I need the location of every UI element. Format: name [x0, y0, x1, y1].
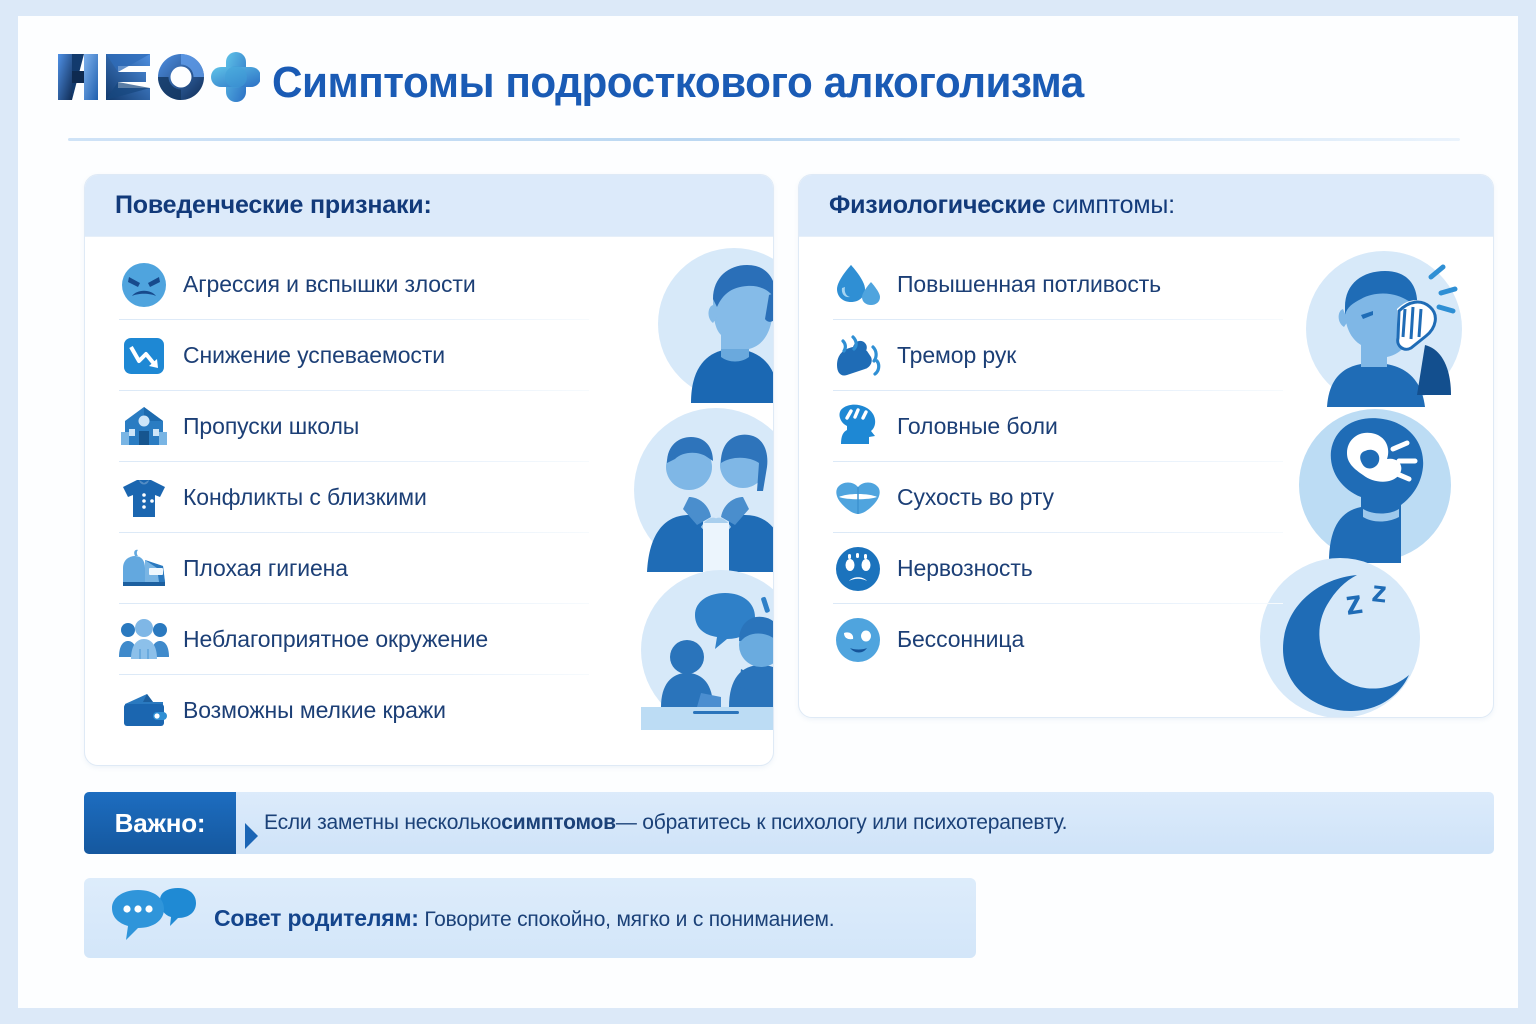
- list-item-label: Конфликты с близкими: [183, 484, 427, 511]
- list-item-label: Неблагоприятное окружение: [183, 626, 488, 653]
- header-divider: [68, 138, 1460, 141]
- nervous-face-icon: [833, 544, 883, 594]
- group-people-icon: [119, 615, 169, 665]
- important-tag-label: Важно:: [115, 808, 206, 839]
- head-pain-icon: [833, 402, 883, 452]
- list-item[interactable]: Снижение успеваемости: [85, 320, 773, 391]
- list-item-label: Тремор рук: [897, 342, 1016, 369]
- list-item[interactable]: Плохая гигиена: [85, 533, 773, 604]
- advice-banner: Совет родителям: Говорите спокойно, мягк…: [84, 878, 976, 958]
- tshirt-icon: [119, 473, 169, 523]
- wallet-icon: [119, 686, 169, 736]
- panel-physiological-title-suffix: симптомы:: [1046, 191, 1175, 219]
- advice-label: Совет родителям:: [214, 905, 419, 931]
- list-item[interactable]: Сухость во рту: [799, 462, 1493, 533]
- list-item-label: Повышенная потливость: [897, 271, 1161, 298]
- important-tag: Важно:: [84, 792, 236, 854]
- advice-body: Говорите спокойно, мягко и с пониманием.: [419, 908, 835, 931]
- list-item-label: Возможны мелкие кражи: [183, 697, 446, 724]
- list-item[interactable]: Неблагоприятное окружение: [85, 604, 773, 675]
- sweat-drops-icon: [833, 260, 883, 310]
- page-title: Симптомы подросткового алкоголизма: [272, 58, 1084, 108]
- trash-bag-icon: [119, 544, 169, 594]
- list-item-label: Плохая гигиена: [183, 555, 348, 582]
- list-item-label: Нервозность: [897, 555, 1033, 582]
- dry-lips-icon: [833, 473, 883, 523]
- important-banner: Важно: Если заметны несколько симптомов …: [84, 792, 1494, 854]
- panel-behavioral-header: Поведенческие признаки:: [85, 175, 773, 237]
- list-item[interactable]: Нервозность: [799, 533, 1493, 604]
- sleepless-face-icon: [833, 615, 883, 665]
- panel-behavioral-title-suffix: :: [423, 191, 431, 219]
- panel-behavioral-body: Агрессия и вспышки злости Снижение успев…: [85, 237, 773, 765]
- speech-bubbles-icon: [110, 888, 196, 949]
- neo-plus-logo: [50, 46, 260, 108]
- school-building-icon: [119, 402, 169, 452]
- infographic-canvas: Симптомы подросткового алкоголизма Повед…: [18, 16, 1518, 1008]
- header: Симптомы подросткового алкоголизма: [36, 32, 1476, 144]
- list-item[interactable]: Пропуски школы: [85, 391, 773, 462]
- important-text-after: — обратитесь к психологу или психотерапе…: [616, 811, 1067, 835]
- advice-text: Совет родителям: Говорите спокойно, мягк…: [214, 905, 834, 932]
- list-item-label: Головные боли: [897, 413, 1058, 440]
- important-text-bold: симптомов: [501, 811, 616, 835]
- list-item[interactable]: Возможны мелкие кражи: [85, 675, 773, 746]
- panel-behavioral-title: Поведенческие признаки: [115, 191, 423, 219]
- important-text: Если заметны несколько симптомов — обрат…: [236, 792, 1067, 854]
- list-item-label: Снижение успеваемости: [183, 342, 445, 369]
- panel-physiological: Физиологические симптомы:: [798, 174, 1494, 718]
- list-item-label: Сухость во рту: [897, 484, 1054, 511]
- list-item-label: Агрессия и вспышки злости: [183, 271, 476, 298]
- list-item[interactable]: Повышенная потливость: [799, 249, 1493, 320]
- panel-physiological-body: z z Повышенная потливость: [799, 237, 1493, 717]
- shaking-hand-icon: [833, 331, 883, 381]
- list-item-label: Бессонница: [897, 626, 1024, 653]
- panel-physiological-title: Физиологические: [829, 191, 1046, 219]
- declining-chart-icon: [119, 331, 169, 381]
- list-item[interactable]: Головные боли: [799, 391, 1493, 462]
- panel-behavioral: Поведенческие признаки:: [84, 174, 774, 766]
- list-item-label: Пропуски школы: [183, 413, 359, 440]
- list-item[interactable]: Тремор рук: [799, 320, 1493, 391]
- panel-physiological-header: Физиологические симптомы:: [799, 175, 1493, 237]
- important-text-before: Если заметны несколько: [264, 811, 501, 835]
- list-item[interactable]: Бессонница: [799, 604, 1493, 675]
- angry-face-icon: [119, 260, 169, 310]
- list-item[interactable]: Конфликты с близкими: [85, 462, 773, 533]
- list-item[interactable]: Агрессия и вспышки злости: [85, 249, 773, 320]
